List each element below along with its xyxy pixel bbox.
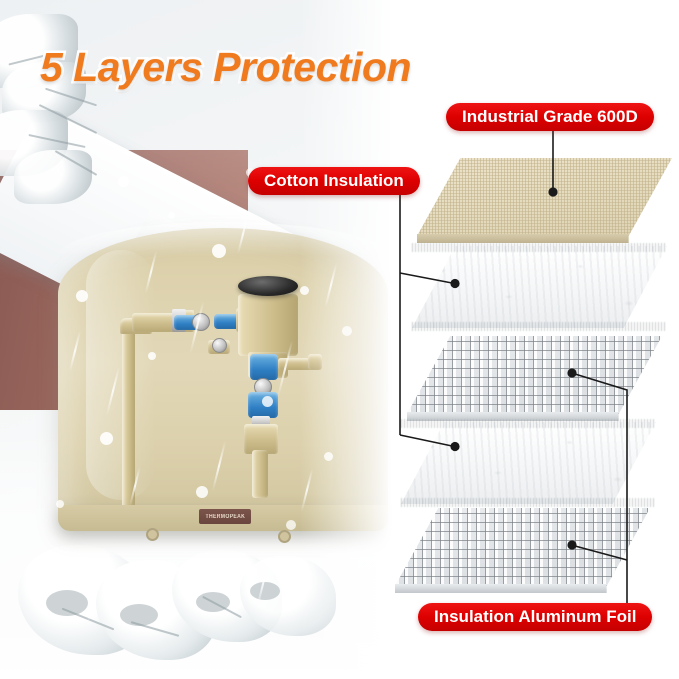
leader-dot-foil-upper: [567, 368, 576, 377]
leader-branch-cotton-lower: [400, 435, 452, 446]
leader-branch-foil-upper: [575, 374, 627, 603]
badge-insulation-aluminum-foil: Insulation Aluminum Foil: [418, 603, 652, 631]
leader-branch-cotton-upper: [400, 273, 452, 283]
page-title: 5 Layers Protection: [40, 44, 411, 91]
badge-industrial-grade-600d: Industrial Grade 600D: [446, 103, 654, 131]
badge-cotton-insulation: Cotton Insulation: [248, 167, 420, 195]
leader-dot-600d: [548, 187, 557, 196]
leader-dot-cotton-lower: [450, 442, 459, 451]
infographic-canvas: THERMOPEAK: [0, 0, 679, 679]
leader-dot-cotton-upper: [450, 279, 459, 288]
leader-dot-foil-lower: [567, 540, 576, 549]
callout-leader-lines: [0, 0, 679, 679]
leader-branch-foil-lower: [575, 546, 627, 560]
